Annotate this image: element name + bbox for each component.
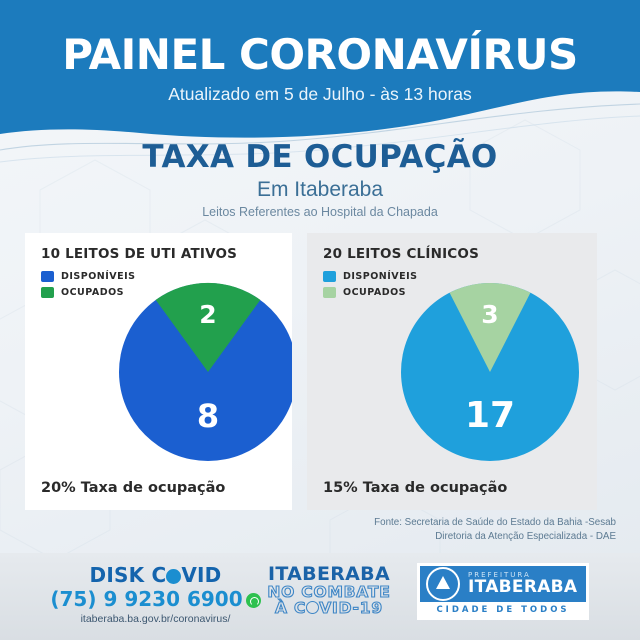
virus-icon (166, 569, 181, 584)
pie-chart-clinicos: 3 17 (307, 233, 597, 510)
pie-value-ocupados: 3 (481, 300, 498, 329)
combate-line-3: À CVID-19 (256, 600, 402, 616)
coronavirus-site-link[interactable]: itaberaba.ba.gov.br/coronavirus/ (48, 613, 263, 625)
prefeitura-big-label: ITABERABA (468, 579, 577, 596)
source-credit: Fonte: Secretaria de Saúde do Estado da … (0, 516, 616, 544)
prefeitura-names: PREFEITURA ITABERABA (468, 572, 577, 596)
chart-card-uti: 10 LEITOS DE UTI ATIVOS DISPONÍVEIS OCUP… (25, 233, 292, 510)
section-heading: TAXA DE OCUPAÇÃO Em Itaberaba Leitos Ref… (0, 140, 640, 220)
virus-icon (306, 601, 319, 614)
page-title: PAINEL CORONAVÍRUS (0, 32, 640, 78)
combate-line-2: NO COMBATE (256, 584, 402, 600)
combate-covid-logo: ITABERABA NO COMBATE À CVID-19 (256, 564, 402, 616)
combate-line-3-before: À C (275, 599, 306, 617)
prefeitura-logo: PREFEITURA ITABERABA CIDADE DE TODOS (417, 563, 589, 620)
prefeitura-band: PREFEITURA ITABERABA (420, 566, 586, 602)
city-seal-icon (426, 567, 460, 601)
source-line-1: Fonte: Secretaria de Saúde do Estado da … (0, 516, 616, 530)
occupancy-rate-uti: 20% Taxa de ocupação (41, 480, 225, 496)
pie-value-ocupados: 2 (199, 300, 216, 329)
disk-covid-title-after: VID (181, 563, 221, 587)
disk-covid-phone[interactable]: (75) 9 9230 6900 (48, 588, 263, 611)
poster-canvas: PAINEL CORONAVÍRUS Atualizado em 5 de Ju… (0, 0, 640, 640)
section-title: TAXA DE OCUPAÇÃO (0, 140, 640, 174)
disk-covid-title: DISK CVID (48, 564, 263, 586)
disk-covid-title-before: DISK C (90, 563, 167, 587)
chart-card-clinicos: 20 LEITOS CLÍNICOS DISPONÍVEIS OCUPADOS … (307, 233, 597, 510)
section-city: Em Itaberaba (0, 178, 640, 202)
phone-number: (75) 9 9230 6900 (50, 587, 242, 611)
pie-value-disponiveis: 8 (197, 397, 219, 435)
occupancy-rate-clinicos: 15% Taxa de ocupação (323, 480, 507, 496)
header-subtitle: Atualizado em 5 de Julho - às 13 horas (0, 84, 640, 104)
combate-line-1: ITABERABA (256, 564, 402, 584)
source-line-2: Diretoria da Atenção Especializada - DAE (0, 530, 616, 544)
pie-value-disponiveis: 17 (465, 395, 515, 436)
section-note: Leitos Referentes ao Hospital da Chapada (0, 205, 640, 220)
pie-chart-uti: 2 8 (25, 233, 292, 510)
header-banner: PAINEL CORONAVÍRUS Atualizado em 5 de Ju… (0, 0, 640, 160)
combate-line-3-after: VID-19 (319, 599, 383, 617)
prefeitura-tagline: CIDADE DE TODOS (420, 602, 586, 615)
disk-covid-block: DISK CVID (75) 9 9230 6900 itaberaba.ba.… (48, 564, 263, 625)
